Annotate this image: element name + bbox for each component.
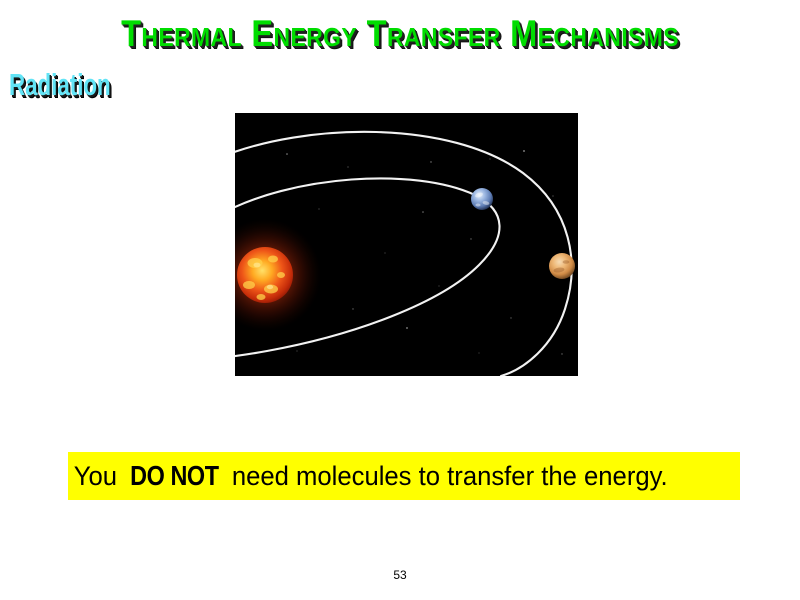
caption-banner: You DO NOT need molecules to transfer th… [68, 452, 740, 500]
section-subtitle: Radiation [9, 68, 111, 101]
caption-emphasis: DO NOT [130, 461, 219, 491]
earth-body [471, 188, 493, 210]
page-number: 53 [0, 568, 800, 582]
solar-system-illustration [235, 113, 578, 376]
mars-body [549, 253, 575, 279]
slide-canvas: Thermal Energy Transfer Mechanisms Radia… [0, 0, 800, 600]
caption-text: You DO NOT need molecules to transfer th… [68, 461, 668, 491]
solar-system-figure [235, 113, 578, 376]
caption-lead: You [74, 461, 124, 491]
page-title: Thermal Energy Transfer Mechanisms [48, 14, 752, 54]
caption-tail: need molecules to transfer the energy. [225, 461, 668, 491]
